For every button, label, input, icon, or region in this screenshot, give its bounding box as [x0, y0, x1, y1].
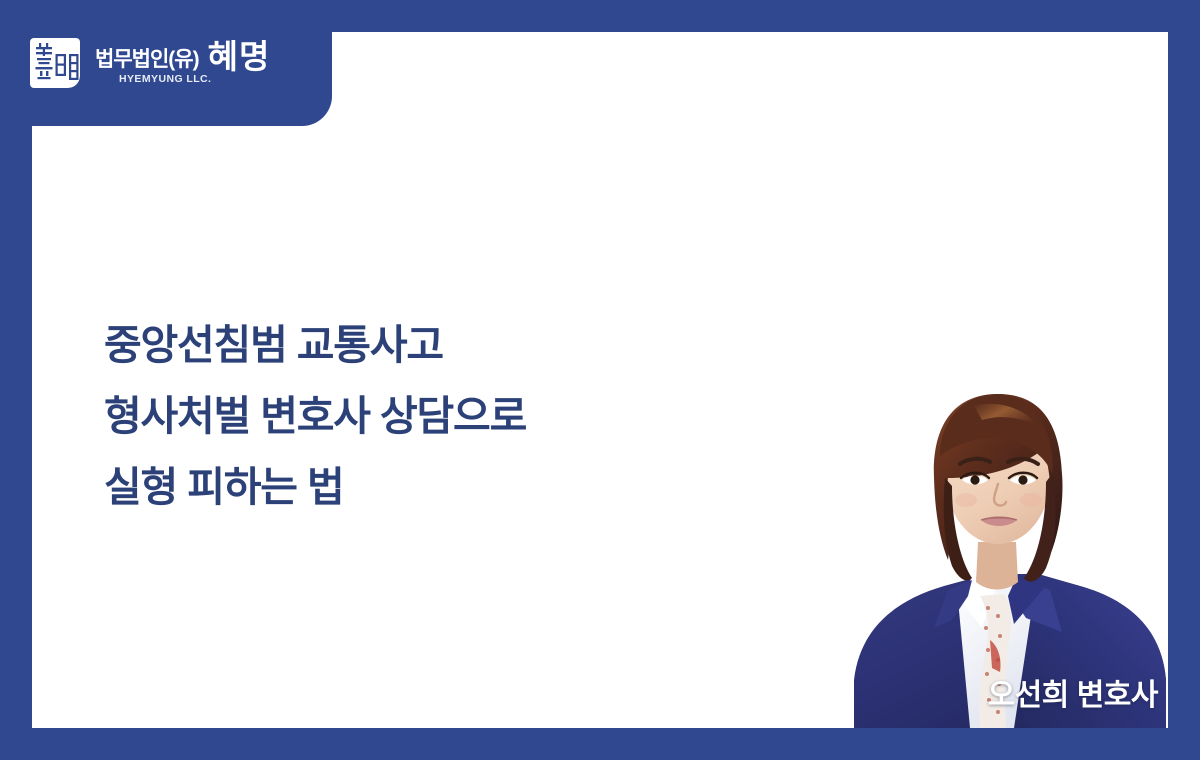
brand-logo[interactable]: 법무법인(유) 혜명 HYEMYUNG LLC.	[26, 32, 270, 94]
headline-line-1: 중앙선침범 교통사고	[104, 310, 526, 381]
attorney-portrait	[848, 328, 1168, 728]
hyemyung-seal-icon	[26, 34, 84, 92]
promo-card-canvas: 중앙선침범 교통사고 형사처벌 변호사 상담으로 실형 피하는 법	[0, 0, 1200, 760]
logo-name-english: HYEMYUNG LLC.	[119, 75, 211, 85]
logo-name-prefix: 법무법인(유)	[95, 49, 199, 70]
content-card: 중앙선침범 교통사고 형사처벌 변호사 상담으로 실형 피하는 법	[32, 32, 1168, 728]
portrait-caption: 오선희 변호사	[988, 670, 1158, 714]
logo-name-main: 혜명	[208, 40, 271, 73]
headline-line-3: 실형 피하는 법	[104, 452, 526, 523]
headline-line-2: 형사처벌 변호사 상담으로	[104, 381, 526, 452]
headline-block: 중앙선침범 교통사고 형사처벌 변호사 상담으로 실형 피하는 법	[104, 310, 526, 523]
logo-wordmark: 법무법인(유) 혜명 HYEMYUNG LLC.	[95, 40, 270, 87]
